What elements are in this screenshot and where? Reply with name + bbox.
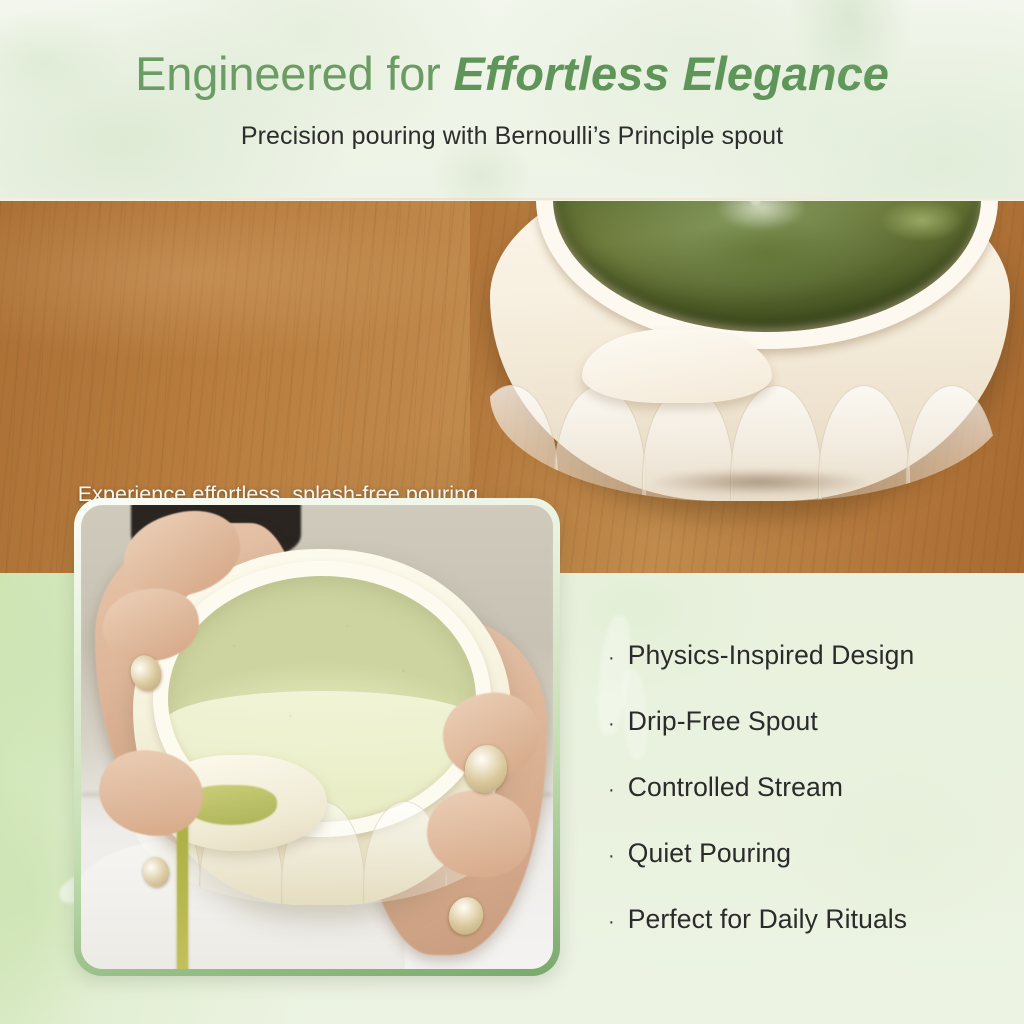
bullet-dot-icon: · (608, 846, 615, 866)
bullet-dot-icon: · (608, 648, 615, 668)
ceramic-bowl-body (490, 201, 1010, 501)
list-item-label: Controlled Stream (628, 772, 843, 803)
bowl-shadow (650, 469, 870, 495)
bullet-dot-icon: · (608, 714, 615, 734)
list-item-label: Drip-Free Spout (628, 706, 818, 737)
header-divider (0, 198, 1024, 200)
pouring-photo (81, 505, 553, 969)
list-item-label: Quiet Pouring (628, 838, 791, 869)
petal (490, 385, 558, 501)
list-item: · Perfect for Daily Rituals (608, 904, 1008, 935)
bullet-dot-icon: · (608, 912, 615, 932)
promo-page: Engineered for Effortless Elegance Preci… (0, 0, 1024, 1024)
pouring-photo-card (74, 498, 560, 976)
title-accent: Effortless Elegance (454, 47, 889, 100)
header-band: Engineered for Effortless Elegance Preci… (0, 0, 1024, 200)
list-item: · Physics-Inspired Design (608, 640, 1008, 671)
page-subtitle: Precision pouring with Bernoulli’s Princ… (0, 122, 1024, 151)
petal (554, 385, 646, 501)
bullet-dot-icon: · (608, 780, 615, 800)
title-lead: Engineered for (135, 47, 453, 100)
page-title: Engineered for Effortless Elegance (0, 48, 1024, 101)
list-item: · Controlled Stream (608, 772, 1008, 803)
petal (906, 385, 998, 501)
list-item: · Quiet Pouring (608, 838, 1008, 869)
list-item: · Drip-Free Spout (608, 706, 1008, 737)
list-item-label: Physics-Inspired Design (628, 640, 915, 671)
list-item-label: Perfect for Daily Rituals (628, 904, 907, 935)
benefits-list: · Physics-Inspired Design · Drip-Free Sp… (608, 640, 1008, 970)
